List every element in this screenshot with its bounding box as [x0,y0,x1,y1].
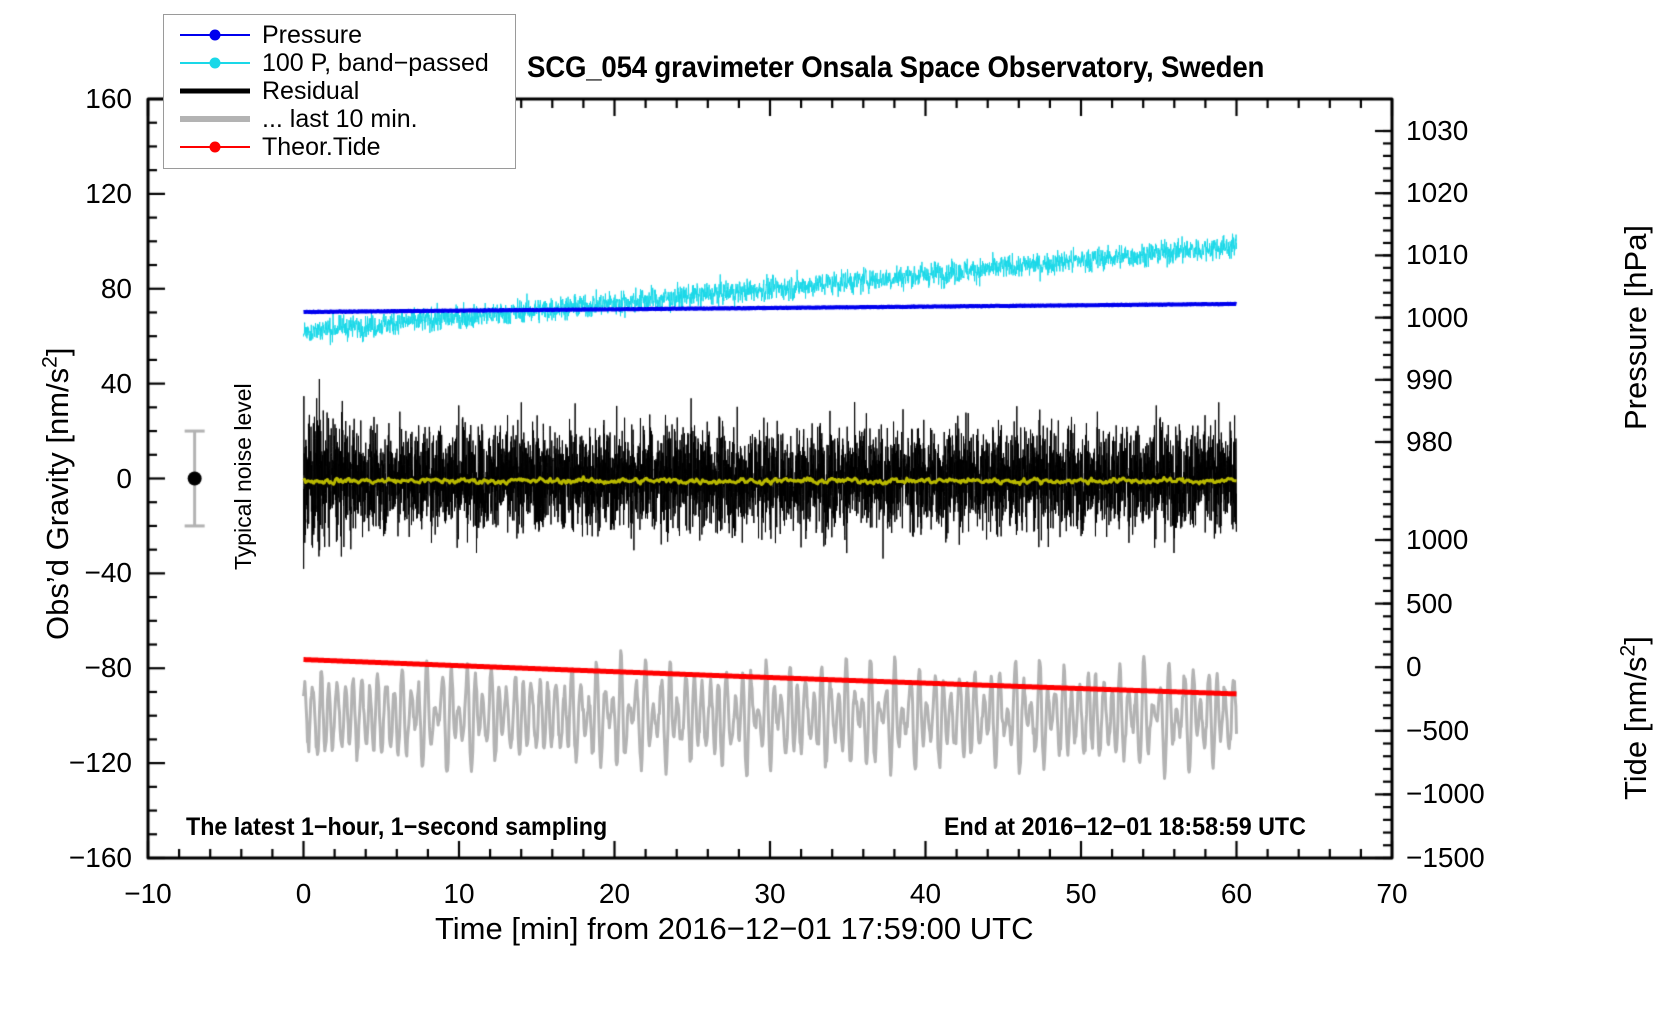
legend-item-2[interactable]: Residual [176,77,505,105]
legend-item-label: ... last 10 min. [254,105,418,134]
legend-item-4[interactable]: Theor.Tide [176,133,505,161]
legend-swatch-icon [176,49,254,77]
legend-item-0[interactable]: Pressure [176,21,505,49]
legend-swatch-icon [176,21,254,49]
legend-item-label: Theor.Tide [254,133,381,162]
legend-swatch-icon [176,105,254,133]
legend-swatch-icon [176,133,254,161]
legend-item-label: Residual [254,77,359,106]
legend-item-label: 100 P, band−passed [254,49,489,78]
legend-item-3[interactable]: ... last 10 min. [176,105,505,133]
chart-legend[interactable]: Pressure100 P, band−passedResidual... la… [163,14,516,169]
legend-item-label: Pressure [254,21,362,50]
legend-item-1[interactable]: 100 P, band−passed [176,49,505,77]
legend-swatch-icon [176,77,254,105]
gravimeter-chart-figure: SCG_054 gravimeter Onsala Space Observat… [0,0,1660,1020]
